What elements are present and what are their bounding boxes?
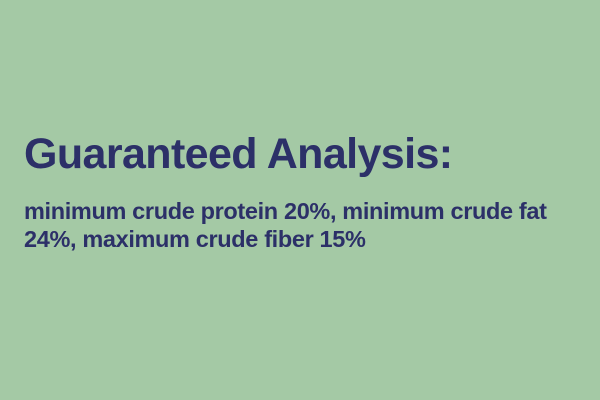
guaranteed-analysis-card: Guaranteed Analysis: minimum crude prote… — [0, 0, 600, 400]
text-block: Guaranteed Analysis: minimum crude prote… — [24, 131, 576, 253]
guaranteed-analysis-body: minimum crude protein 20%, minimum crude… — [24, 197, 576, 253]
page-title: Guaranteed Analysis: — [24, 131, 576, 177]
